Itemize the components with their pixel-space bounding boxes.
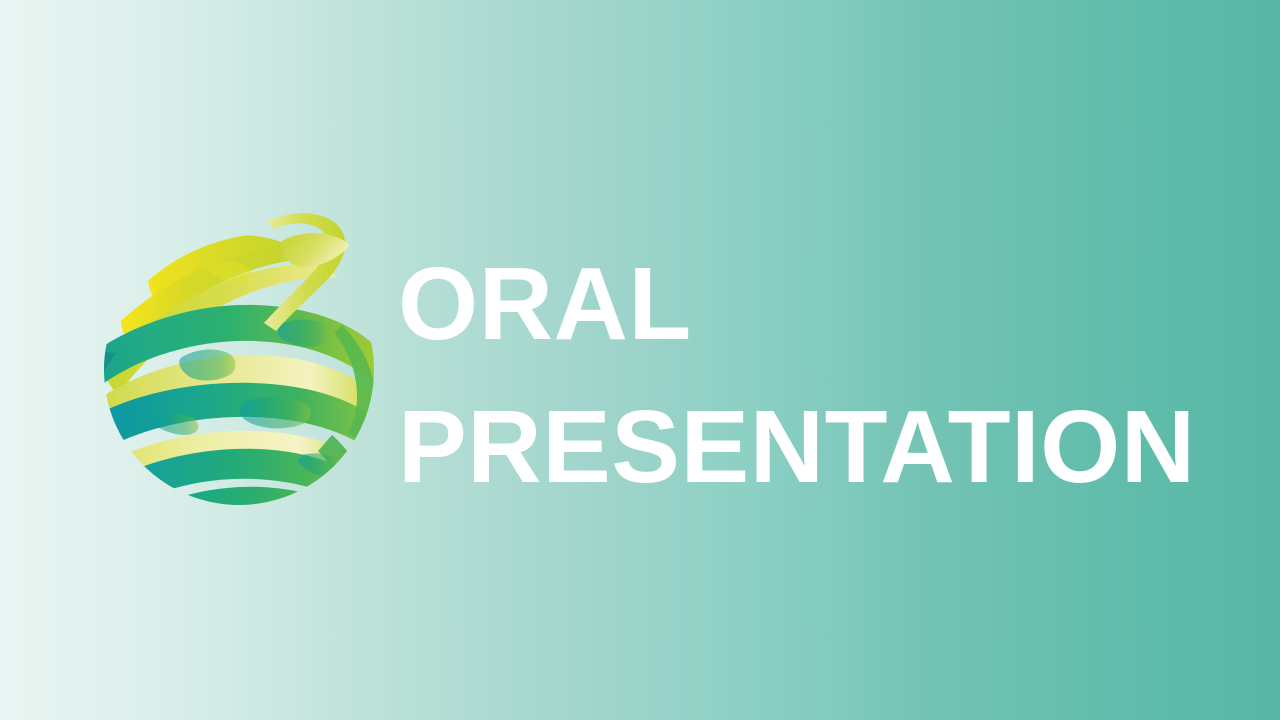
ribbon-band-teal-2-fold (96, 417, 112, 457)
page-title: ORAL PRESENTATION (398, 232, 1238, 518)
globe-ribbons (96, 233, 382, 519)
title-line-2: PRESENTATION (398, 375, 1238, 518)
ribbon-band-teal-4 (140, 487, 348, 519)
title-line-1: ORAL (398, 232, 1238, 375)
title-slide: ORAL PRESENTATION (0, 0, 1280, 720)
globe-ribbon-leaf-logo (96, 205, 382, 519)
ribbon-band-teal-3-fold (112, 481, 130, 513)
